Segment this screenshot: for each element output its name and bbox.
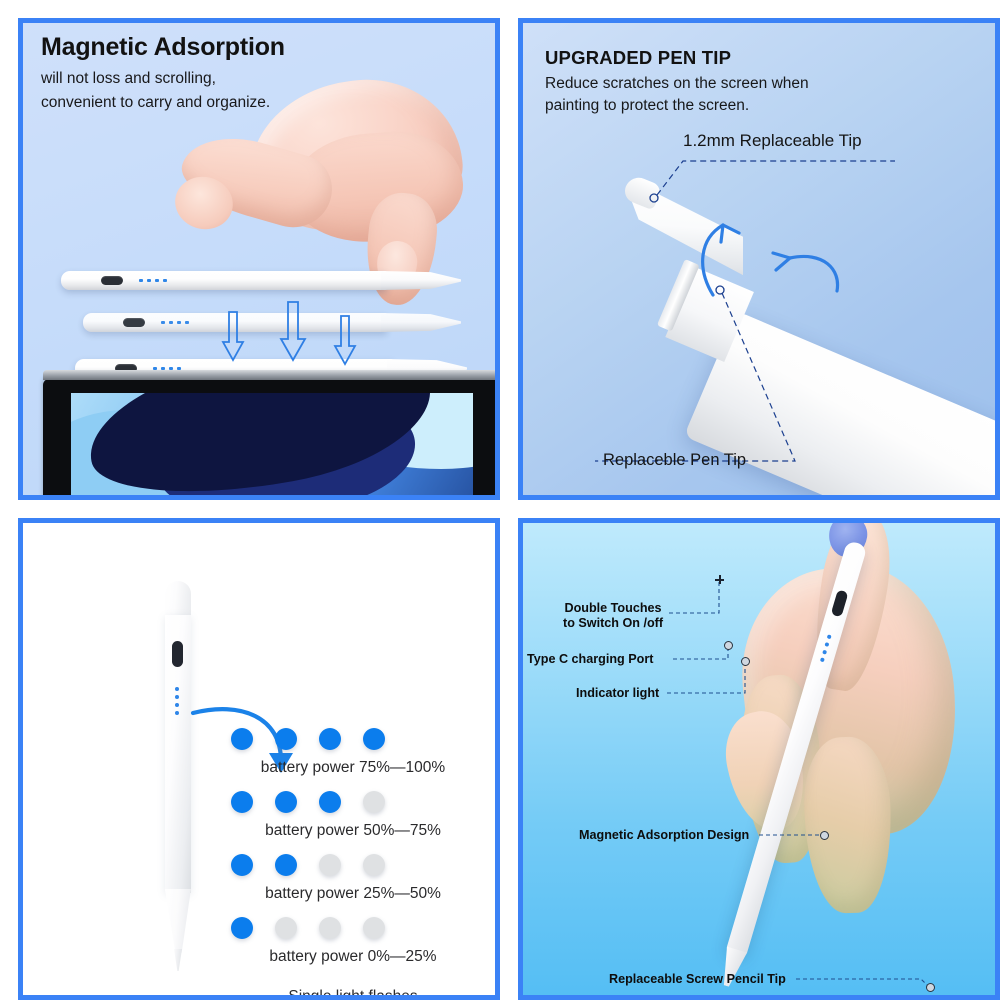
battery-dot-on [275,791,297,813]
panel-magnetic-adsorption: Magnetic Adsorption will not loss and sc… [18,18,500,500]
label-double-touches: Double Touches to Switch On /off [563,601,663,632]
callout-replaceable-tip: 1.2mm Replaceable Tip [683,131,862,151]
battery-dot-on [231,728,253,750]
battery-dot-off [275,917,297,939]
magnet-marker-icon [820,831,829,840]
panel2-subtitle-line2: painting to protect the screen. [545,95,809,117]
panel2-subtitle: Reduce scratches on the screen when pain… [545,73,809,117]
label-double-touches-line1: Double Touches [563,601,663,616]
usb-c-port-icon [101,276,123,285]
battery-level-row: battery power 50%—75% [219,791,487,840]
battery-dots [231,917,487,939]
down-arrow-icon [333,315,357,367]
battery-level-caption: battery power 0%—25% [219,948,487,966]
down-arrow-icon [221,311,245,363]
usb-c-port-icon [123,318,145,327]
tablet-wallpaper [71,393,473,500]
battery-dot-off [363,917,385,939]
battery-level-caption: battery power 50%—75% [219,822,487,840]
battery-level-row: battery power 25%—50% [219,854,487,903]
down-arrow-icon [279,301,303,353]
panel-battery-indicator: battery power 75%—100% battery power 50%… [18,518,500,1000]
battery-dot-off [363,791,385,813]
feature-leader-lines [523,523,1000,1000]
battery-dot-on [231,854,253,876]
crosshair-marker-icon [715,575,724,584]
stylus-pen-icon [83,313,461,332]
page-title: Magnetic Adsorption [41,33,485,63]
battery-footer: Single light flashes Battery is less tha… [219,982,487,1000]
battery-footer-line1: Single light flashes [219,982,487,1000]
label-type-c-port: Type C charging Port [527,652,653,666]
battery-dots [231,854,487,876]
label-double-touches-line2: to Switch On /off [563,616,663,631]
battery-dot-on [363,728,385,750]
battery-dot-on [231,917,253,939]
battery-dot-on [319,728,341,750]
panel2-subtitle-line1: Reduce scratches on the screen when [545,73,809,95]
battery-dot-on [275,728,297,750]
panel1-subtitle-line2: convenient to carry and organize. [41,91,485,115]
indicator-led-icon [161,321,189,324]
page-title: UPGRADED PEN TIP [545,47,731,69]
battery-dot-off [363,854,385,876]
tablet-icon [43,379,500,500]
led-marker-icon [741,657,750,666]
battery-level-caption: battery power 25%—50% [219,885,487,903]
indicator-led-icon [139,279,167,282]
battery-level-caption: battery power 75%—100% [219,759,487,777]
panel-pen-features: Double Touches to Switch On /off Type C … [518,518,1000,1000]
panel-upgraded-pen-tip: UPGRADED PEN TIP Reduce scratches on the… [518,18,1000,500]
label-indicator-light: Indicator light [576,686,659,700]
battery-levels-list: battery power 75%—100% battery power 50%… [219,728,487,1000]
battery-level-row: battery power 75%—100% [219,728,487,777]
tip-marker-icon [926,983,935,992]
label-magnetic-adsorption-design: Magnetic Adsorption Design [579,828,749,842]
label-replaceable-screw-pencil-tip: Replaceable Screw Pencil Tip [609,972,786,986]
battery-dot-on [231,791,253,813]
battery-dot-on [319,791,341,813]
battery-dot-off [319,917,341,939]
indicator-led-icon [175,687,179,715]
battery-dot-off [319,854,341,876]
panel1-subtitle-line1: will not loss and scrolling, [41,67,485,91]
battery-dots [231,791,487,813]
battery-dot-on [275,854,297,876]
panel1-header: Magnetic Adsorption will not loss and sc… [41,33,485,115]
stylus-pen-icon [61,271,461,290]
port-marker-icon [724,641,733,650]
battery-dots [231,728,487,750]
infographic-grid: Magnetic Adsorption will not loss and sc… [0,0,1000,1000]
usb-c-port-icon [172,641,183,667]
callout-replaceble-pen-tip: Replaceble Pen Tip [603,451,746,470]
battery-level-row: battery power 0%—25% [219,917,487,966]
